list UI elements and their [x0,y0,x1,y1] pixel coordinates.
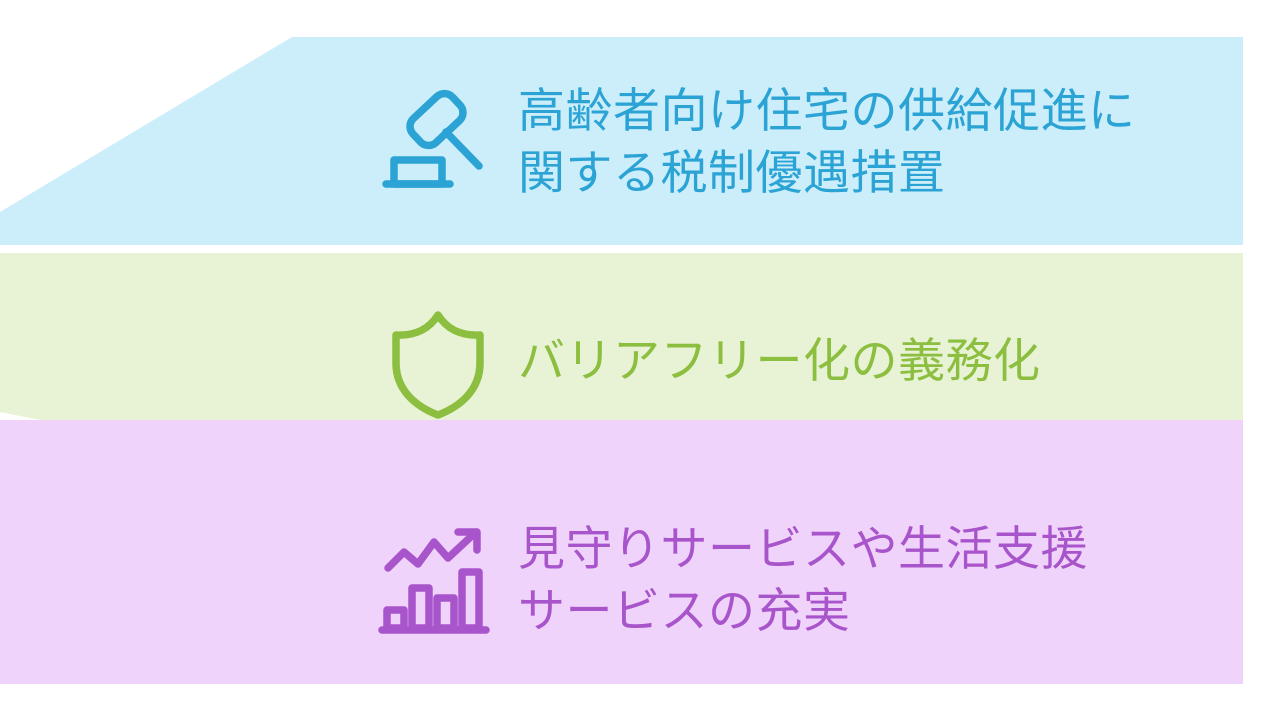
shield-icon [380,303,496,419]
bar-chart-growth-icon [380,522,496,638]
band-row-barrier-free[interactable]: バリアフリー化の義務化 [380,254,1240,468]
band-label-barrier-free: バリアフリー化の義務化 [496,330,1240,392]
chevron-band-diagram: 高齢者向け住宅の供給促進に 関する税制優遇措置 バリアフリー化の義務化 見守りサ… [0,0,1280,718]
band-label-housing-tax: 高齢者向け住宅の供給促進に 関する税制優遇措置 [496,80,1240,204]
band-label-watch-services: 見守りサービスや生活支援 サービスの充実 [496,518,1240,642]
gavel-auction-icon [380,84,496,200]
band-row-housing-tax[interactable]: 高齢者向け住宅の供給促進に 関する税制優遇措置 [380,40,1240,244]
band-row-watch-services[interactable]: 見守りサービスや生活支援 サービスの充実 [380,478,1240,682]
